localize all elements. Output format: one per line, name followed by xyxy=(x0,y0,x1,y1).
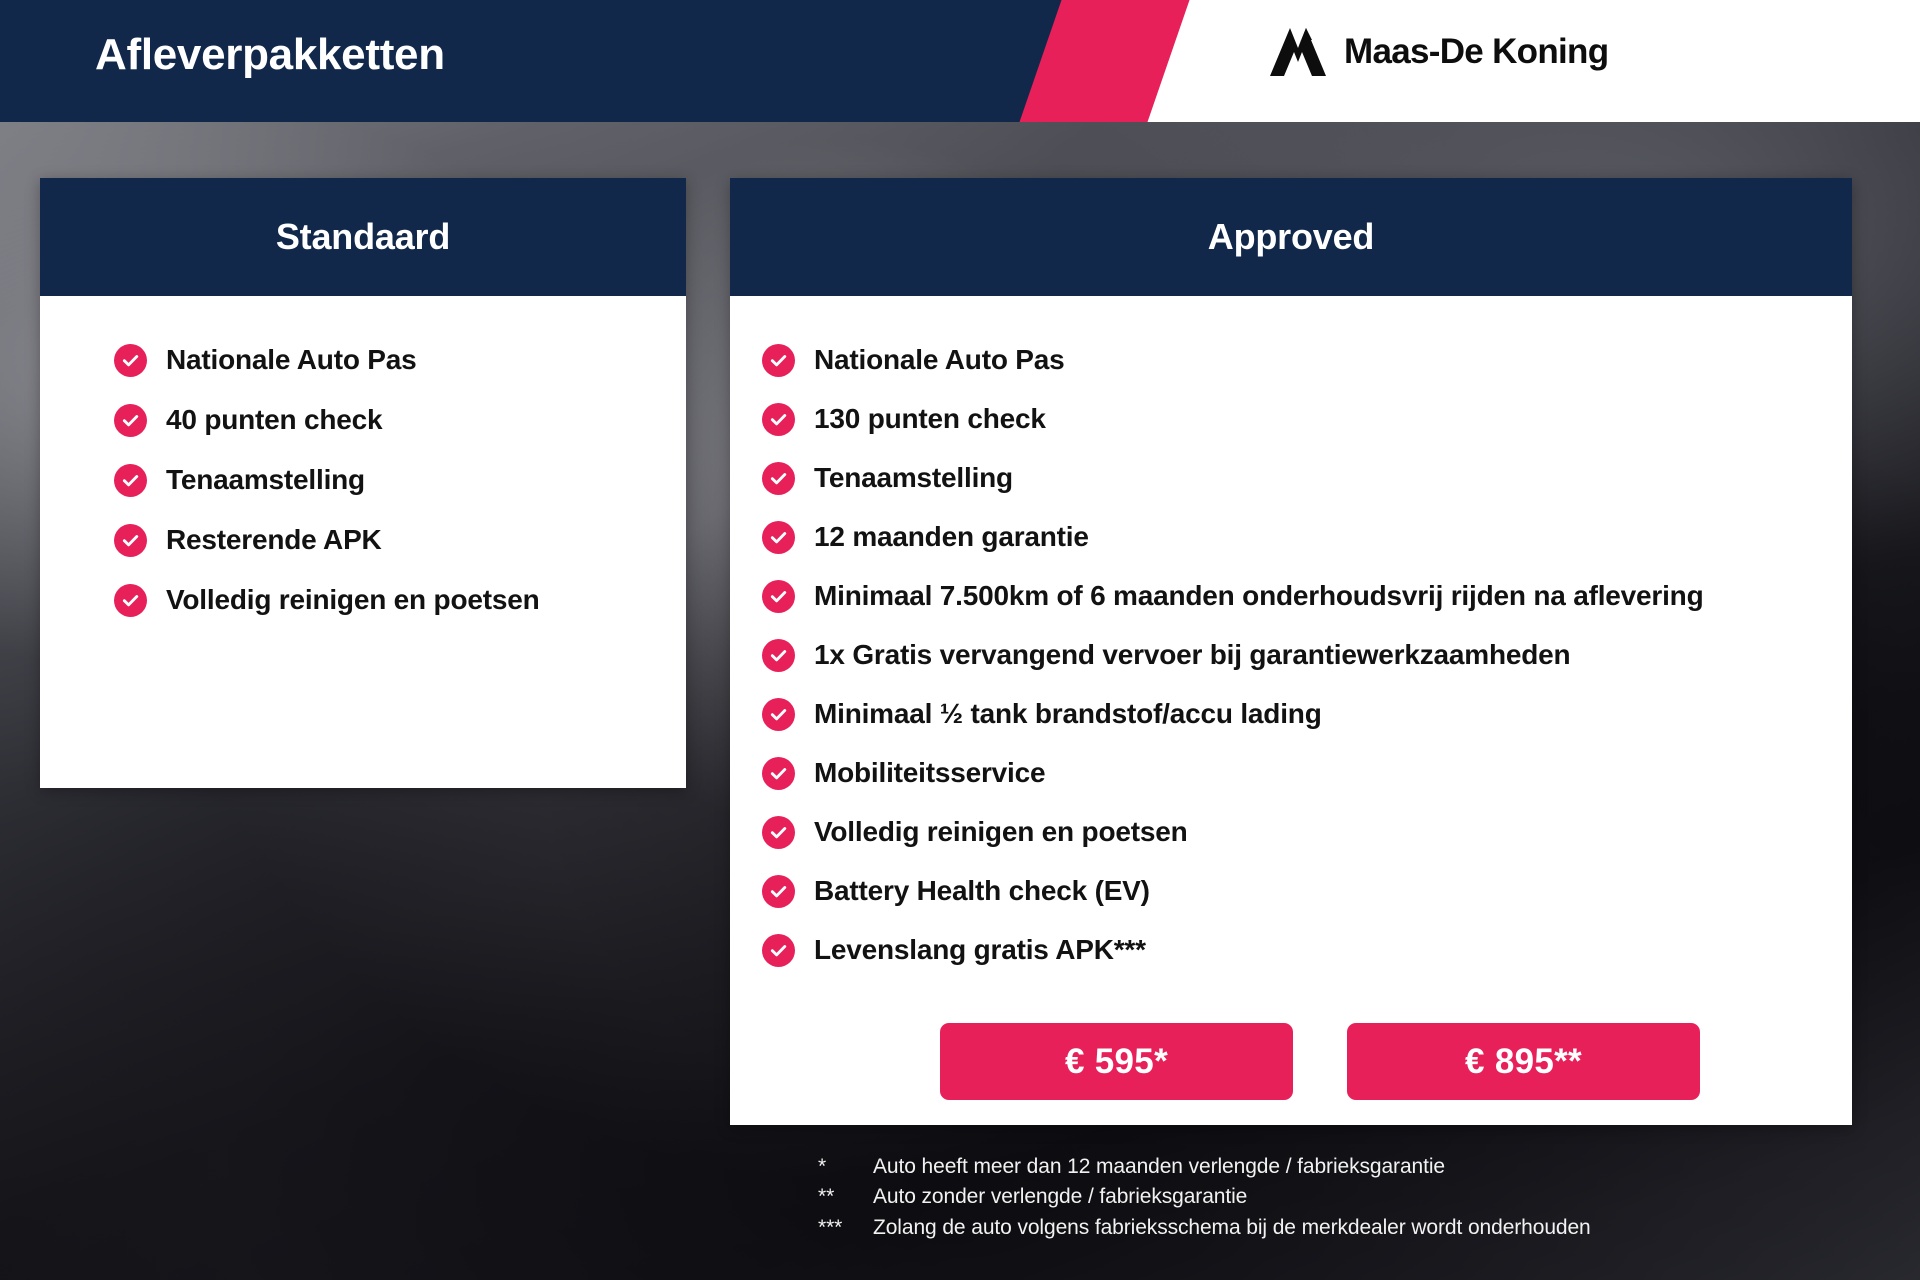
feature-item: Minimaal ½ tank brandstof/accu lading xyxy=(762,694,1822,734)
card-title-approved: Approved xyxy=(730,178,1852,296)
feature-label: 130 punten check xyxy=(814,399,1046,439)
footnote-item: ** Auto zonder verlengde / fabrieksgaran… xyxy=(818,1182,1591,1212)
feature-label: Mobiliteitsservice xyxy=(814,753,1045,793)
maas-de-koning-m-mark-icon xyxy=(1268,26,1326,78)
footnote-text: Auto heeft meer dan 12 maanden verlengde… xyxy=(873,1152,1445,1182)
feature-item: Nationale Auto Pas xyxy=(762,340,1822,380)
feature-item: 130 punten check xyxy=(762,399,1822,439)
footnotes: * Auto heeft meer dan 12 maanden verleng… xyxy=(818,1152,1591,1243)
feature-item: 1x Gratis vervangend vervoer bij garanti… xyxy=(762,635,1822,675)
footnote-mark: *** xyxy=(818,1213,873,1243)
check-icon xyxy=(762,639,795,672)
feature-item: Tenaamstelling xyxy=(762,458,1822,498)
check-icon xyxy=(762,875,795,908)
feature-label: Tenaamstelling xyxy=(814,458,1013,498)
footnote-item: * Auto heeft meer dan 12 maanden verleng… xyxy=(818,1152,1591,1182)
footnote-mark: * xyxy=(818,1152,873,1182)
check-icon xyxy=(762,698,795,731)
feature-item: 12 maanden garantie xyxy=(762,517,1822,557)
check-icon xyxy=(762,934,795,967)
package-card-approved: Approved Nationale Auto Pas 130 punten c… xyxy=(730,178,1852,1125)
card-title-standaard: Standaard xyxy=(40,178,686,296)
footnote-text: Auto zonder verlengde / fabrieksgarantie xyxy=(873,1182,1247,1212)
feature-label: 12 maanden garantie xyxy=(814,517,1089,557)
check-icon xyxy=(762,344,795,377)
check-icon xyxy=(762,403,795,436)
feature-item: Minimaal 7.500km of 6 maanden onderhouds… xyxy=(762,576,1822,616)
check-icon xyxy=(762,521,795,554)
check-icon xyxy=(762,757,795,790)
feature-item: Battery Health check (EV) xyxy=(762,871,1822,911)
feature-list-approved: Nationale Auto Pas 130 punten check Tena… xyxy=(0,296,1852,970)
brand-logo: Maas-De Koning xyxy=(1268,26,1608,78)
feature-item: Volledig reinigen en poetsen xyxy=(762,812,1822,852)
feature-label: Minimaal ½ tank brandstof/accu lading xyxy=(814,694,1322,734)
price-button-group: € 595* € 895** xyxy=(940,1023,1700,1100)
check-icon xyxy=(762,580,795,613)
feature-label: Levenslang gratis APK*** xyxy=(814,930,1146,970)
feature-item: Mobiliteitsservice xyxy=(762,753,1822,793)
header-bar: Afleverpakketten Maas-De Koning xyxy=(0,0,1920,122)
footnote-item: *** Zolang de auto volgens fabrieksschem… xyxy=(818,1213,1591,1243)
feature-label: Minimaal 7.500km of 6 maanden onderhouds… xyxy=(814,576,1703,616)
feature-label: Volledig reinigen en poetsen xyxy=(814,812,1188,852)
footnote-mark: ** xyxy=(818,1182,873,1212)
page-title: Afleverpakketten xyxy=(95,30,445,80)
feature-item: Levenslang gratis APK*** xyxy=(762,930,1822,970)
price-button-895[interactable]: € 895** xyxy=(1347,1023,1700,1100)
brand-name: Maas-De Koning xyxy=(1344,32,1608,72)
feature-label: 1x Gratis vervangend vervoer bij garanti… xyxy=(814,635,1570,675)
feature-label: Nationale Auto Pas xyxy=(814,340,1065,380)
price-button-595[interactable]: € 595* xyxy=(940,1023,1293,1100)
check-icon xyxy=(762,462,795,495)
footnote-text: Zolang de auto volgens fabrieksschema bi… xyxy=(873,1213,1591,1243)
check-icon xyxy=(762,816,795,849)
feature-label: Battery Health check (EV) xyxy=(814,871,1150,911)
